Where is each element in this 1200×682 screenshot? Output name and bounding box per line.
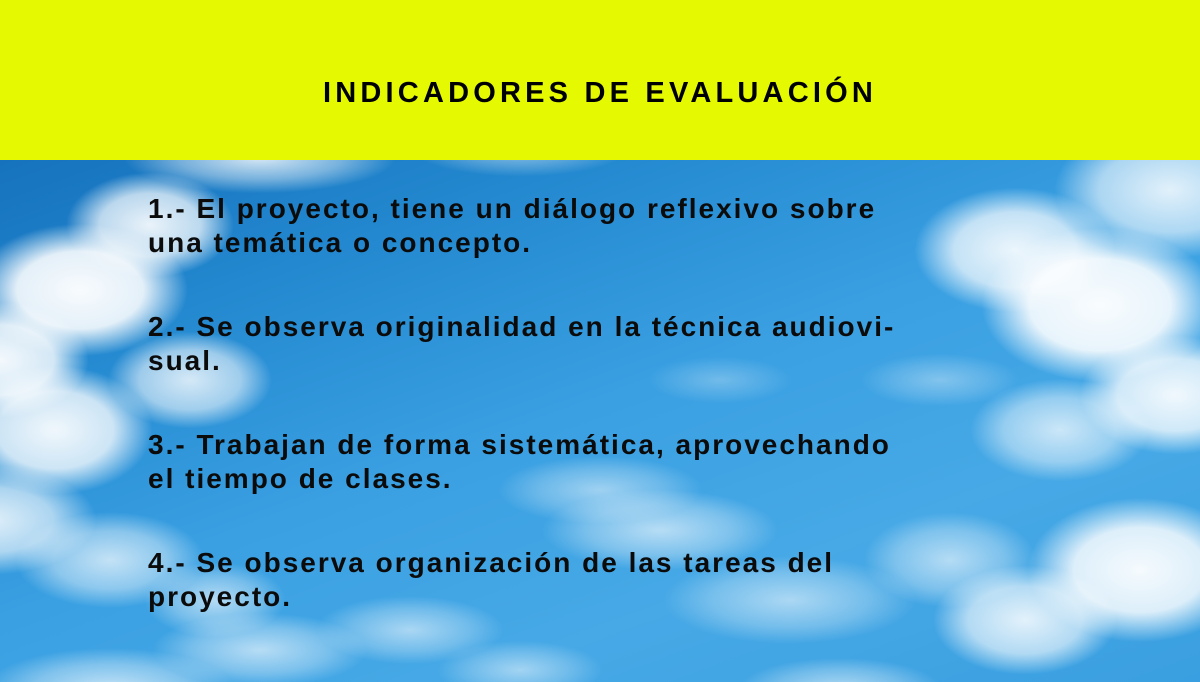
list-item-line: 3.- Trabajan de forma sistemática, aprov… [148, 428, 1078, 462]
list-item: 2.- Se observa originalidad en la técnic… [148, 310, 1078, 378]
list-item-line: proyecto. [148, 580, 1078, 614]
list-item-line: 4.- Se observa organización de las tarea… [148, 546, 1078, 580]
list-item: 3.- Trabajan de forma sistemática, aprov… [148, 428, 1078, 496]
header-band: INDICADORES DE EVALUACIÓN [0, 0, 1200, 160]
list-item-line: sual. [148, 344, 1078, 378]
list-item-line: 1.- El proyecto, tiene un diálogo reflex… [148, 192, 1078, 226]
slide-root: INDICADORES DE EVALUACIÓN 1.- El proyect… [0, 0, 1200, 682]
list-item: 4.- Se observa organización de las tarea… [148, 546, 1078, 614]
list-item-line: el tiempo de clases. [148, 462, 1078, 496]
page-title: INDICADORES DE EVALUACIÓN [0, 78, 1200, 108]
list-item: 1.- El proyecto, tiene un diálogo reflex… [148, 192, 1078, 260]
indicator-list: 1.- El proyecto, tiene un diálogo reflex… [148, 192, 1078, 614]
list-item-line: 2.- Se observa originalidad en la técnic… [148, 310, 1078, 344]
list-item-line: una temática o concepto. [148, 226, 1078, 260]
